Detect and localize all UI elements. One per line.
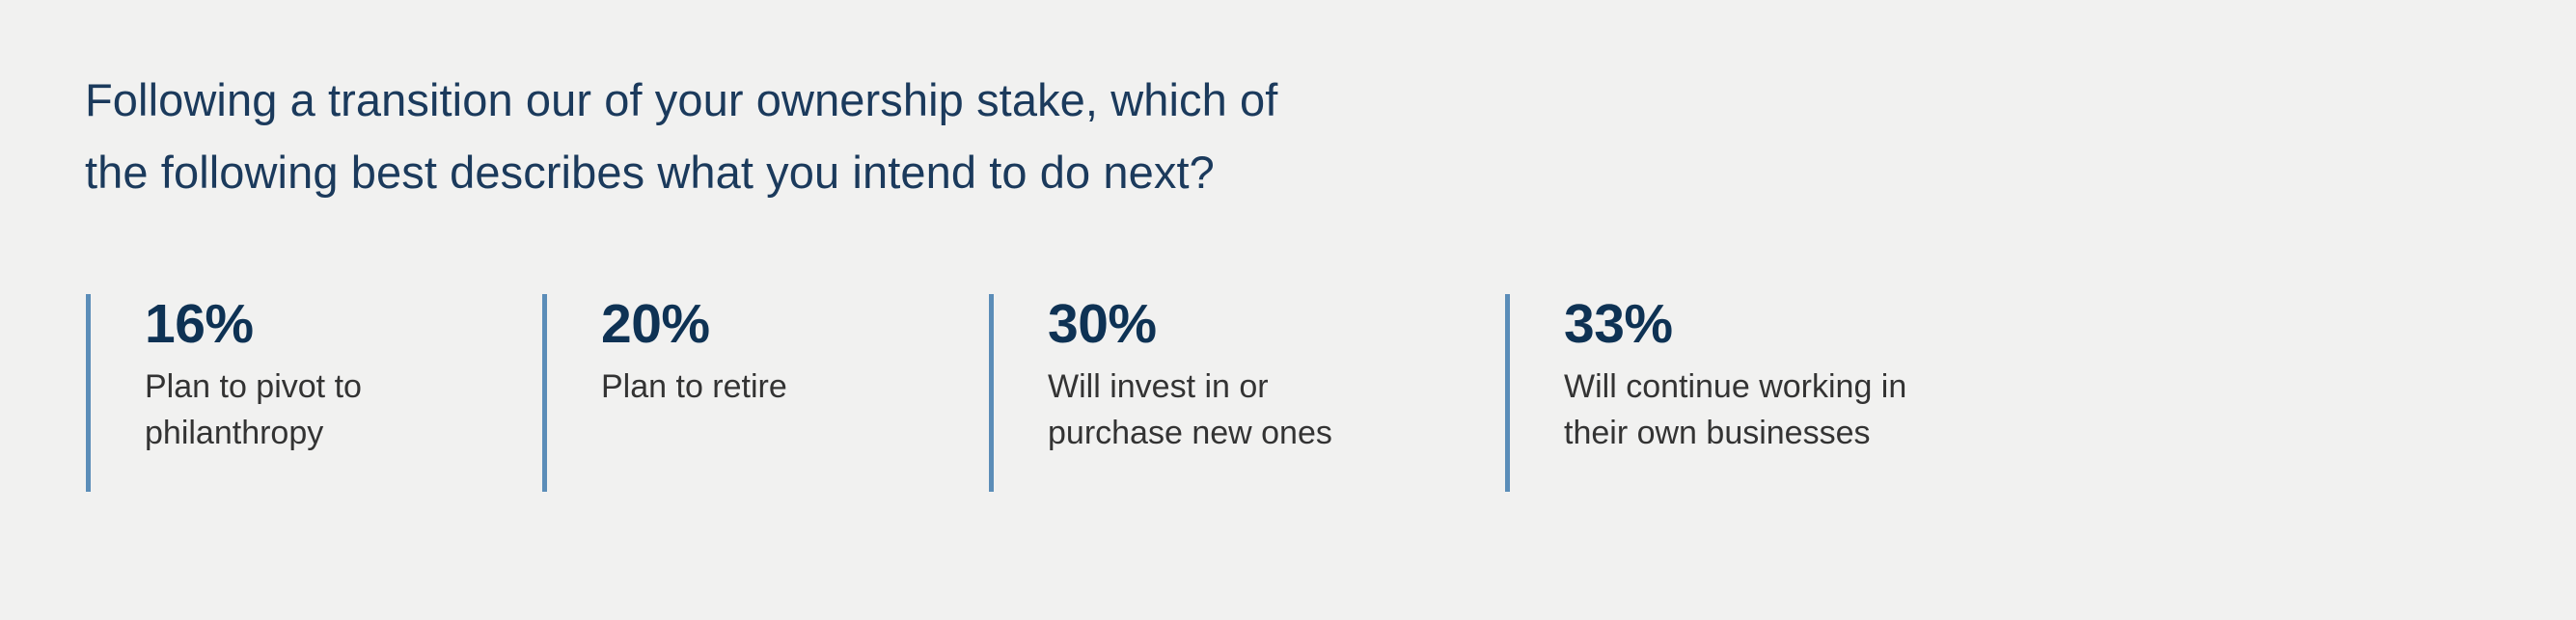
stat-value: 20% bbox=[601, 294, 919, 354]
stat-label-line-1: Will invest in or bbox=[1048, 364, 1337, 410]
stat-content: 16% Plan to pivot to philanthropy bbox=[145, 294, 434, 456]
stat-content: 20% Plan to retire bbox=[601, 294, 919, 410]
page-title-line-1: Following a transition our of your owner… bbox=[85, 64, 1725, 136]
stat-label-line-1: Plan to retire bbox=[601, 364, 919, 410]
stat-content: 30% Will invest in or purchase new ones bbox=[1048, 294, 1337, 456]
vertical-rule-accent bbox=[86, 294, 91, 492]
stat-label-line-2: purchase new ones bbox=[1048, 410, 1337, 456]
stat-label-line-2: their own businesses bbox=[1564, 410, 2046, 456]
vertical-rule-accent bbox=[989, 294, 994, 492]
page-title-line-2: the following best describes what you in… bbox=[85, 136, 1725, 208]
stat-label-line-1: Plan to pivot to bbox=[145, 364, 434, 410]
stat-label-line-1: Will continue working in bbox=[1564, 364, 2046, 410]
stat-content: 33% Will continue working in their own b… bbox=[1564, 294, 2046, 456]
stat-value: 30% bbox=[1048, 294, 1337, 354]
stat-block: 16% Plan to pivot to philanthropy bbox=[86, 294, 501, 492]
stat-block: 33% Will continue working in their own b… bbox=[1505, 294, 2045, 492]
page-title: Following a transition our of your owner… bbox=[85, 64, 1725, 208]
vertical-rule-accent bbox=[1505, 294, 1510, 492]
stat-block: 30% Will invest in or purchase new ones bbox=[989, 294, 1471, 492]
stats-row: 16% Plan to pivot to philanthropy 20% Pl… bbox=[0, 294, 2576, 501]
stat-value: 33% bbox=[1564, 294, 2046, 354]
stat-value: 16% bbox=[145, 294, 434, 354]
stat-callout-infographic: Following a transition our of your owner… bbox=[0, 0, 2576, 620]
stat-label-line-2: philanthropy bbox=[145, 410, 434, 456]
stat-block: 20% Plan to retire bbox=[542, 294, 957, 492]
vertical-rule-accent bbox=[542, 294, 547, 492]
